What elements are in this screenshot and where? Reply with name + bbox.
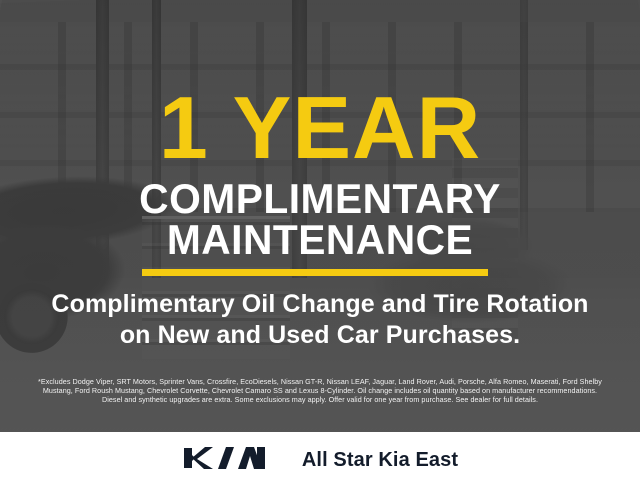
footer-bar: All Star Kia East [0,432,640,488]
disclaimer-text: *Excludes Dodge Viper, SRT Motors, Sprin… [14,377,626,405]
disclaimer-line-3: Diesel and synthetic upgrades are extra.… [14,395,626,404]
banner-content: 1 YEAR COMPLIMENTARY MAINTENANCE Complim… [0,0,640,488]
headline-subtitle: COMPLIMENTARY MAINTENANCE [10,178,631,260]
offer-line-1: Complimentary Oil Change and Tire Rotati… [51,290,588,318]
kia-logo [182,445,274,476]
dealer-name: All Star Kia East [302,449,458,472]
disclaimer-line-2: Mustang, Ford Roush Mustang, Chevrolet C… [14,386,626,395]
headline-year: 1 YEAR [0,80,640,176]
headline-line-maintenance: MAINTENANCE [10,219,631,260]
promotional-banner: 1 YEAR COMPLIMENTARY MAINTENANCE Complim… [0,0,640,488]
offer-line-2: on New and Used Car Purchases. [0,320,640,351]
headline-line-complimentary: COMPLIMENTARY [139,175,501,222]
disclaimer-line-1: *Excludes Dodge Viper, SRT Motors, Sprin… [14,377,626,386]
yellow-divider-bar [142,269,488,276]
offer-text: Complimentary Oil Change and Tire Rotati… [0,289,640,351]
